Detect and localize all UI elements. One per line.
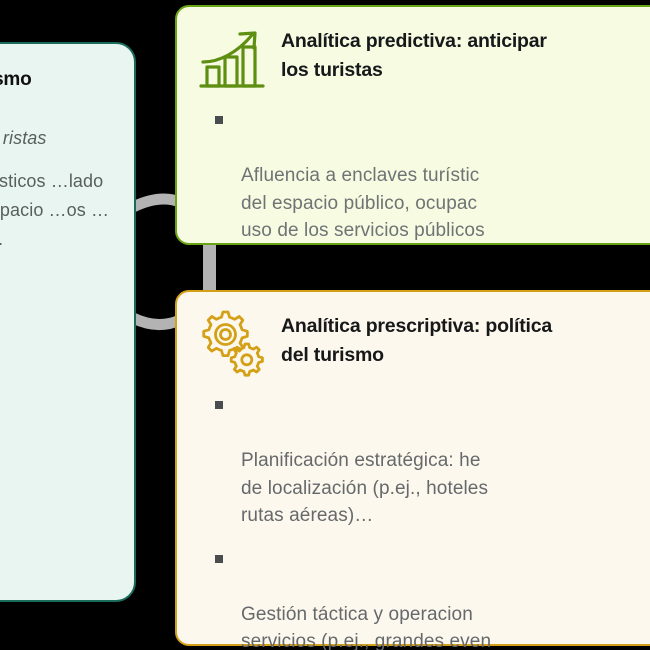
card-descriptive-paragraph-2: …ticos y …sticos …lado y …os …espacio …o… xyxy=(0,167,114,254)
card-descriptive-title: …a: un …smo xyxy=(0,66,114,94)
card-prescriptive-header: Analítica prescriptiva: política del tur… xyxy=(195,308,650,380)
card-prescriptive-title: Analítica prescriptiva: política del tur… xyxy=(281,308,552,371)
growth-bar-chart-icon xyxy=(195,23,267,95)
card-descriptive[interactable]: …a: un …smo …stomer …ristas …ticos y …st… xyxy=(0,42,136,602)
card-predictive-bullets: Afluencia a enclaves turístic del espaci… xyxy=(195,107,650,245)
card-prescriptive-bullets: Planificación estratégica: he de localiz… xyxy=(195,392,650,650)
connector-left-to-prescriptive xyxy=(133,318,180,325)
gears-icon xyxy=(195,308,267,380)
list-item: Gestión táctica y operacion servicios (p… xyxy=(195,546,650,650)
slide-canvas: …a: un …smo …stomer …ristas …ticos y …st… xyxy=(0,0,650,650)
card-predictive-header: Analítica predictiva: anticipar los turi… xyxy=(195,23,650,95)
list-item: Planificación estratégica: he de localiz… xyxy=(195,392,650,530)
list-item: Afluencia a enclaves turístic del espaci… xyxy=(195,107,650,245)
card-descriptive-body: …stomer …ristas …ticos y …sticos …lado y… xyxy=(0,124,114,255)
list-item-text: Afluencia a enclaves turístic del espaci… xyxy=(241,165,485,241)
bullet-square-icon xyxy=(215,401,223,409)
card-predictive-title: Analítica predictiva: anticipar los turi… xyxy=(281,23,547,86)
connector-predictive-to-prescriptive xyxy=(203,244,216,292)
connector-left-to-predictive xyxy=(133,199,180,207)
bullet-square-icon xyxy=(215,116,223,124)
card-prescriptive[interactable]: Analítica prescriptiva: política del tur… xyxy=(175,290,650,646)
list-item-text: Gestión táctica y operacion servicios (p… xyxy=(241,604,491,650)
list-item-text: Planificación estratégica: he de localiz… xyxy=(241,450,488,526)
card-predictive[interactable]: Analítica predictiva: anticipar los turi… xyxy=(175,5,650,245)
card-descriptive-paragraph-1: …stomer …ristas xyxy=(0,124,114,153)
bullet-square-icon xyxy=(215,555,223,563)
